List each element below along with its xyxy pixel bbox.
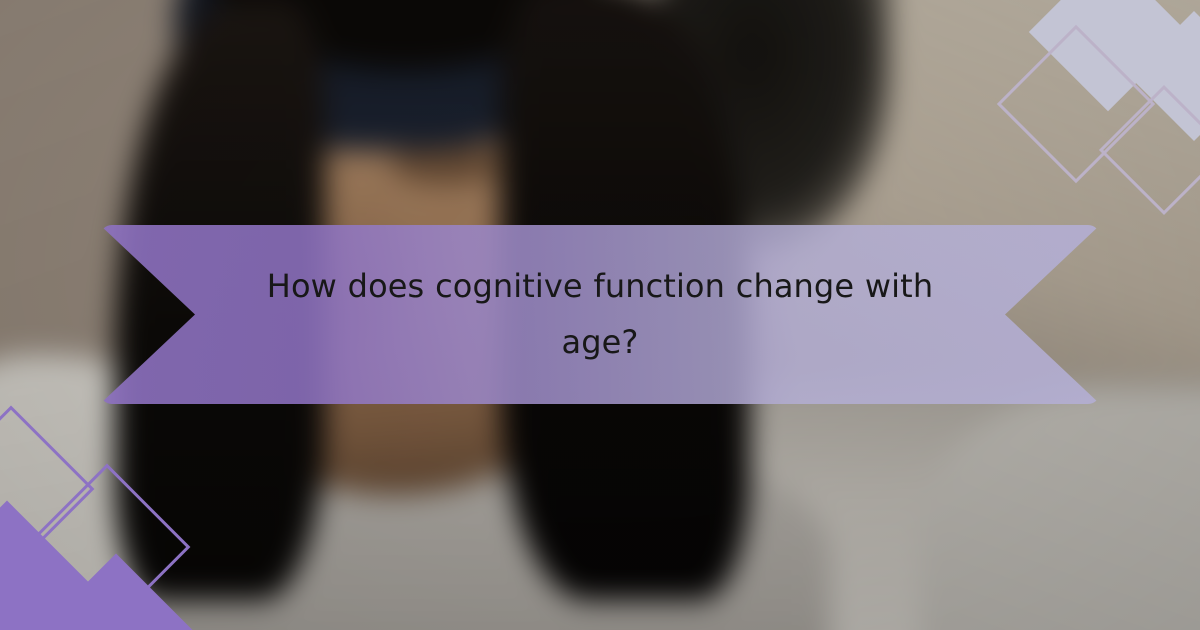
social-card-canvas: How does cognitive function change with … (0, 0, 1200, 630)
page-title: How does cognitive function change with … (235, 259, 965, 369)
headline-ribbon-banner: How does cognitive function change with … (100, 225, 1100, 404)
